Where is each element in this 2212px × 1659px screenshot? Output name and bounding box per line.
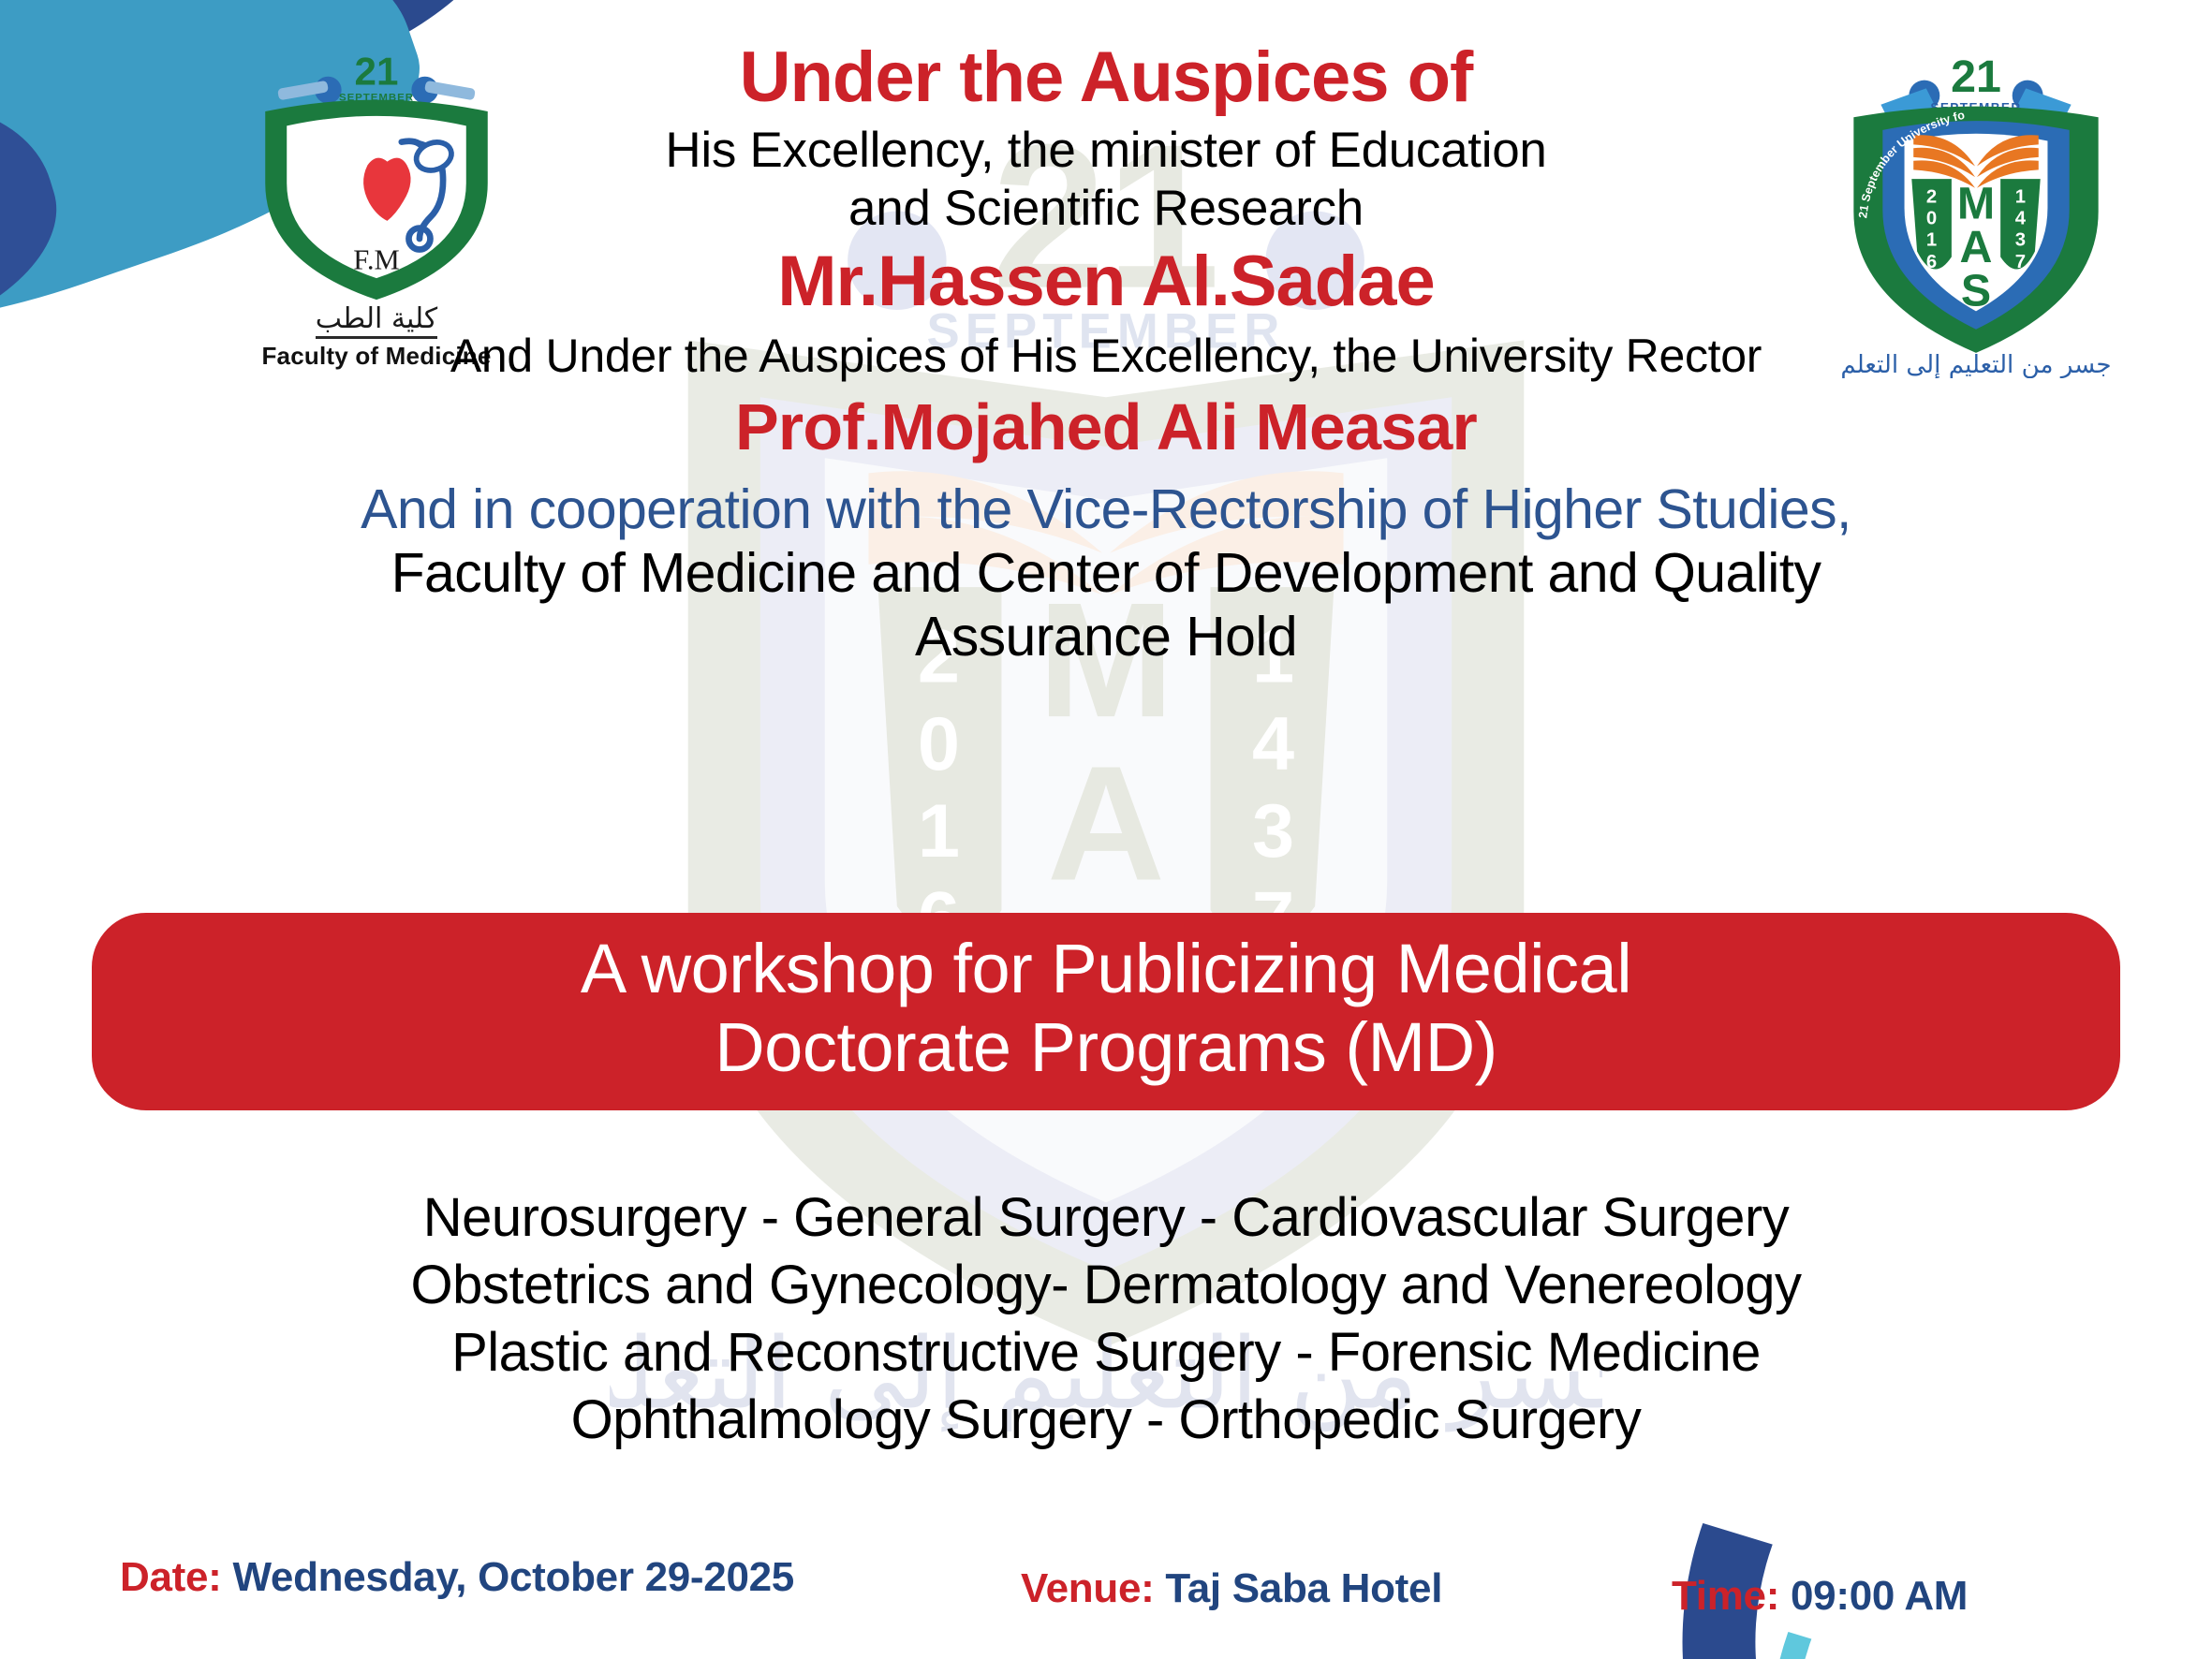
time-value: 09:00 AM xyxy=(1791,1573,1968,1619)
auspices-title: Under the Auspices of xyxy=(0,41,2212,114)
workshop-title-banner-wrapper: A workshop for Publicizing Medical Docto… xyxy=(92,913,2120,1110)
excellency-line-1: His Excellency, the minister of Educatio… xyxy=(0,122,2212,181)
svg-text:0: 0 xyxy=(918,702,960,786)
venue-value: Taj Saba Hotel xyxy=(1165,1565,1442,1611)
event-venue: Venue: Taj Saba Hotel xyxy=(1021,1565,1442,1612)
event-poster: 21 SEPTEMBER 2 0 1 6 1 4 3 7 M A S جسر م… xyxy=(0,0,2212,1659)
date-value: Wednesday, October 29-2025 xyxy=(232,1554,794,1600)
svg-text:4: 4 xyxy=(1252,702,1294,786)
workshop-title-line-2: Doctorate Programs (MD) xyxy=(120,1008,2092,1087)
excellency-line-2: and Scientific Research xyxy=(0,180,2212,239)
specialty-line: Obstetrics and Gynecology- Dermatology a… xyxy=(0,1252,2212,1319)
specialty-line: Neurosurgery - General Surgery - Cardiov… xyxy=(0,1184,2212,1252)
workshop-title-banner: A workshop for Publicizing Medical Docto… xyxy=(92,913,2120,1110)
rector-name: Prof.Mojahed Ali Measar xyxy=(0,393,2212,462)
svg-text:3: 3 xyxy=(1252,789,1294,874)
date-label: Date: xyxy=(120,1554,222,1600)
venue-label: Venue: xyxy=(1021,1565,1154,1611)
event-details-footer: Date: Wednesday, October 29-2025 Venue: … xyxy=(0,1554,2212,1638)
event-time: Time: 09:00 AM xyxy=(1672,1573,1968,1620)
svg-text:1: 1 xyxy=(918,789,960,874)
poster-text-content: Under the Auspices of His Excellency, th… xyxy=(0,0,2212,669)
cooperation-line-3: Assurance Hold xyxy=(0,606,2212,669)
minister-name: Mr.Hassen Al.Sadae xyxy=(0,244,2212,319)
specialty-line: Ophthalmology Surgery - Orthopedic Surge… xyxy=(0,1387,2212,1454)
time-label: Time: xyxy=(1672,1573,1779,1619)
event-date: Date: Wednesday, October 29-2025 xyxy=(120,1554,794,1601)
cooperation-line-2: Faculty of Medicine and Center of Develo… xyxy=(0,542,2212,606)
specialties-list: Neurosurgery - General Surgery - Cardiov… xyxy=(0,1184,2212,1454)
workshop-title-line-1: A workshop for Publicizing Medical xyxy=(120,930,2092,1008)
cooperation-line-1: And in cooperation with the Vice-Rectors… xyxy=(0,478,2212,542)
svg-text:A: A xyxy=(1047,732,1165,915)
rector-intro: And Under the Auspices of His Excellency… xyxy=(0,330,2212,384)
specialty-line: Plastic and Reconstructive Surgery - For… xyxy=(0,1319,2212,1387)
